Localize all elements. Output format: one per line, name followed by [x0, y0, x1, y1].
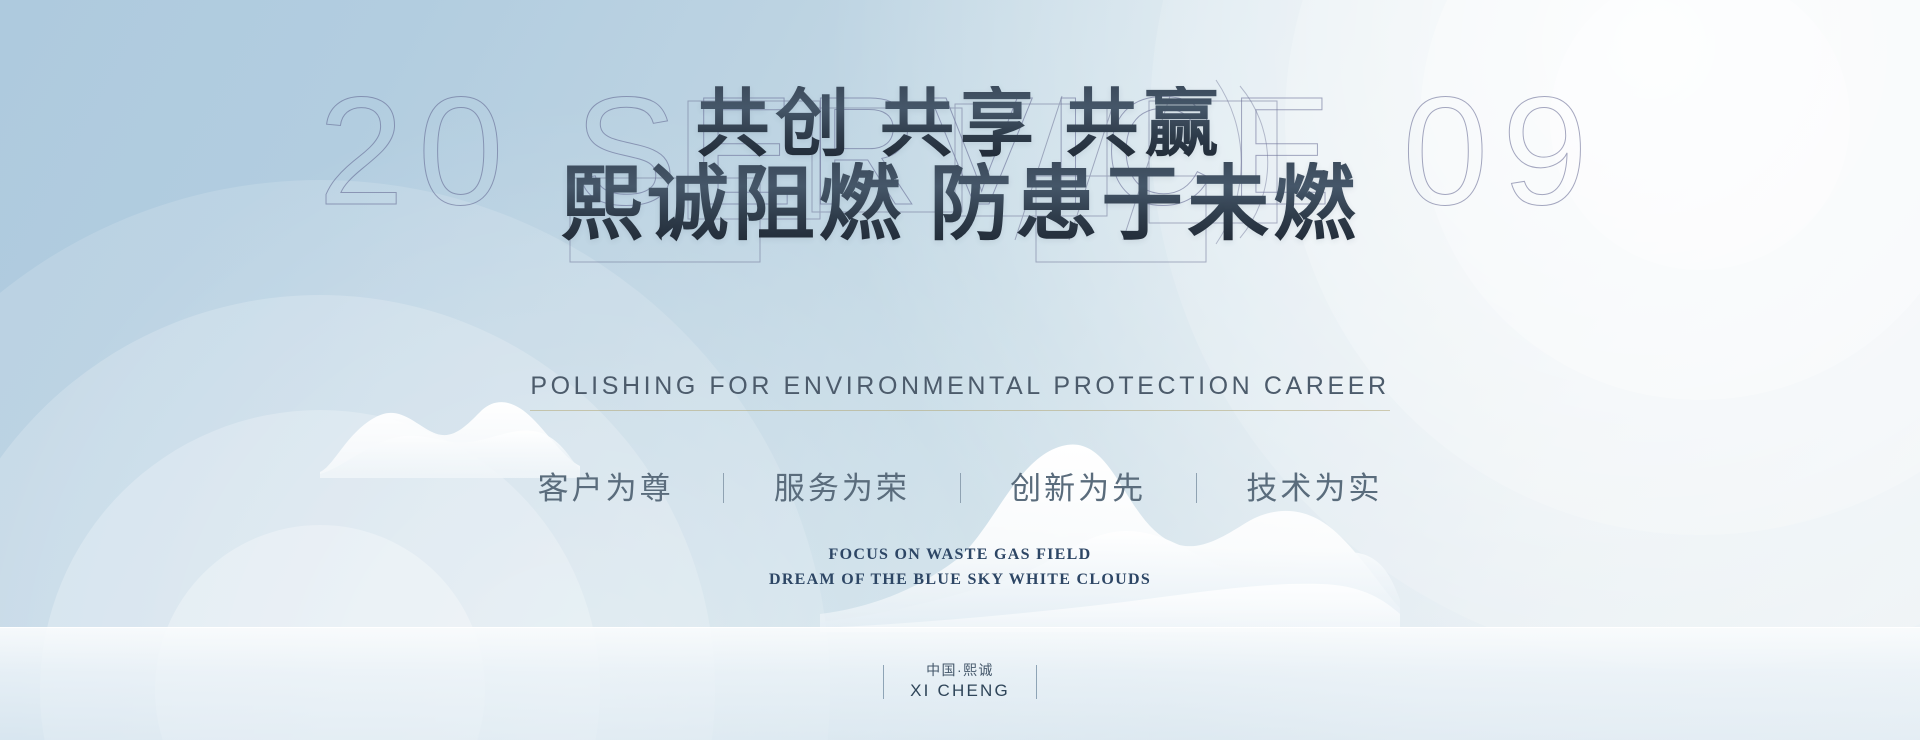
value-separator-1	[723, 473, 724, 503]
title-line-2: 熙诚阻燃 防患于未燃	[0, 162, 1920, 249]
eyebrow-subtitle: POLISHING FOR ENVIRONMENTAL PROTECTION C…	[0, 372, 1920, 411]
horizon-line	[0, 627, 1920, 628]
brand-signature: 中国·熙诚 XI CHENG	[0, 661, 1920, 703]
value-phrase-1: 客户为尊	[538, 463, 674, 508]
value-separator-3	[1196, 473, 1197, 503]
page-title: 共创 共享 共赢 熙诚阻燃 防患于未燃	[0, 86, 1920, 249]
title-line-1: 共创 共享 共赢	[0, 86, 1920, 164]
tagline-line-1: FOCUS ON WASTE GAS FIELD	[0, 543, 1920, 568]
value-phrase-3: 创新为先	[1010, 463, 1146, 508]
tagline-line-2: DREAM OF THE BLUE SKY WHITE CLOUDS	[0, 568, 1920, 593]
tagline-block: FOCUS ON WASTE GAS FIELD DREAM OF THE BL…	[0, 543, 1920, 593]
value-phrase-list: 客户为尊 服务为荣 创新为先 技术为实	[0, 463, 1920, 508]
signature-rule-left	[883, 665, 884, 699]
hero-banner: 20 SERVICE 09 共创 共享 共赢 熙诚阻燃 防患于未燃	[0, 0, 1920, 740]
signature-cn: 中国·熙诚	[910, 661, 1010, 680]
value-phrase-2: 服务为荣	[774, 463, 910, 508]
value-separator-2	[960, 473, 961, 503]
signature-en: XI CHENG	[910, 680, 1010, 703]
eyebrow-text: POLISHING FOR ENVIRONMENTAL PROTECTION C…	[530, 372, 1389, 411]
value-phrase-4: 技术为实	[1246, 463, 1382, 508]
signature-rule-right	[1036, 665, 1037, 699]
